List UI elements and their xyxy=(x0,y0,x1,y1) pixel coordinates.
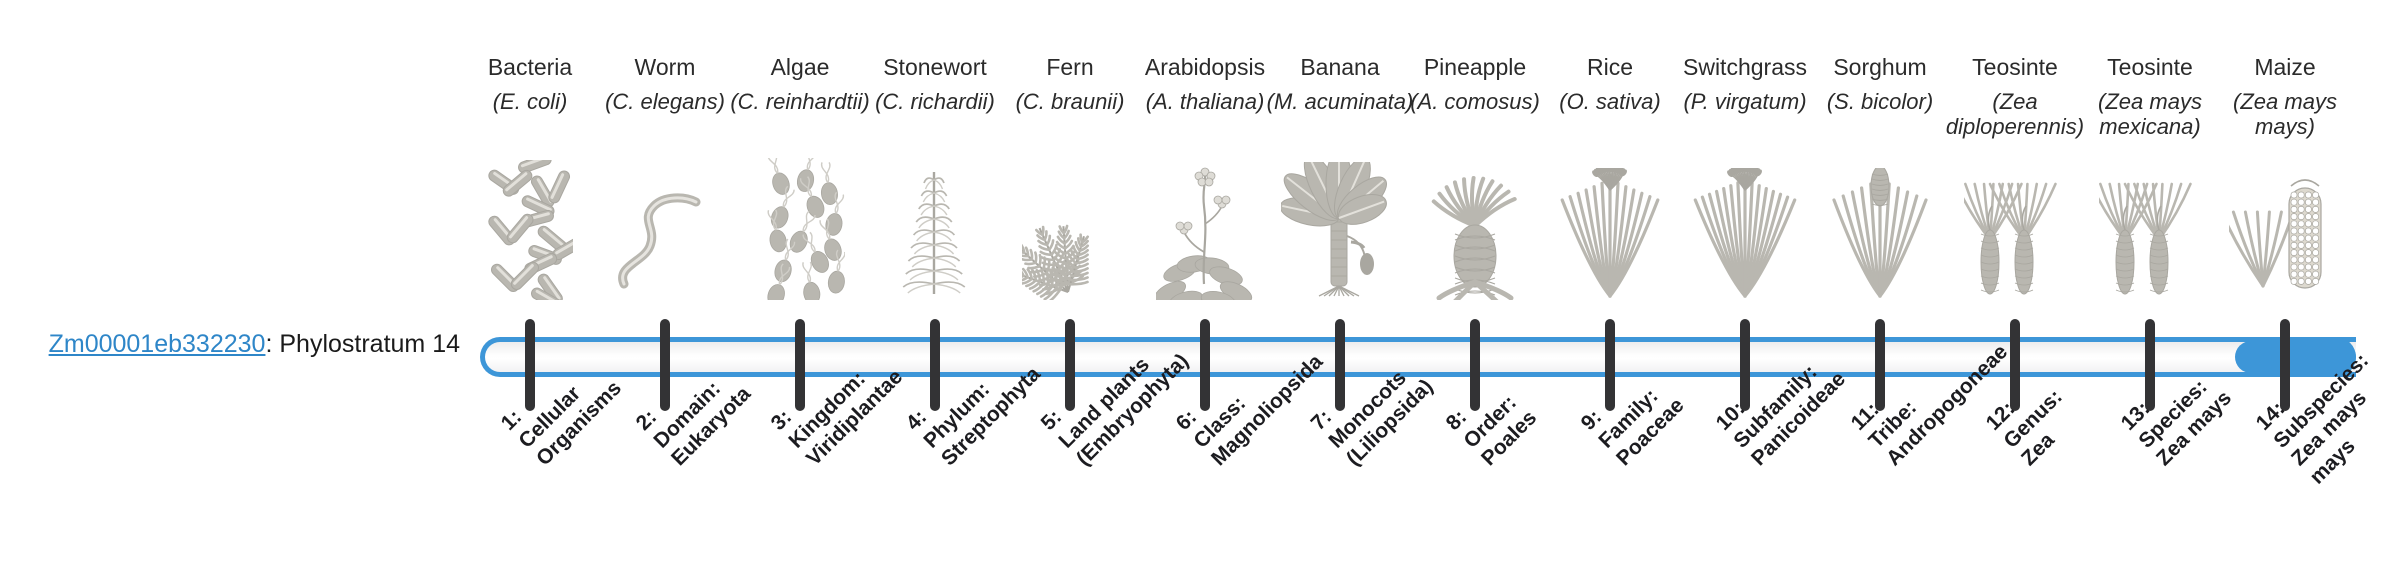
phylostratum-label: 13: Species: Zea mays xyxy=(2116,312,2275,471)
phylostratum-label: 12: Genus: Zea xyxy=(1981,312,2140,471)
phylostratum-label: 14: Subspecies: Zea mays mays xyxy=(2251,312,2400,489)
phylostratum-timeline-figure: Zm00001eb332230: Phylostratum 14 Bacteri… xyxy=(0,0,2400,580)
phylostratum-label: 1: Cellular Organisms xyxy=(496,312,655,471)
phylostratum-label: 5: Land plants (Embryophyta) xyxy=(1036,312,1195,471)
gene-id-link[interactable]: Zm00001eb332230 xyxy=(49,330,266,358)
phylostratum-label: 4: Phylum: Streptophyta xyxy=(901,312,1060,471)
phylostratum-label: 2: Domain: Eukaryota xyxy=(631,312,790,471)
phylostratum-label: 10: Subfamily: Panicoideae xyxy=(1711,312,1870,471)
phylostratum-label: 8: Order: Poales xyxy=(1441,312,1600,471)
gene-row-label: Zm00001eb332230: Phylostratum 14 xyxy=(0,330,460,359)
phylostratum-label: 9: Family: Poaceae xyxy=(1576,312,1735,471)
phylostratum-labels: 1: Cellular Organisms2: Domain: Eukaryot… xyxy=(480,0,2355,580)
phylostratum-label: 7: Monocots (Liliopsida) xyxy=(1306,312,1465,471)
gene-phylostratum-text: Phylostratum 14 xyxy=(279,330,460,358)
gene-label-separator: : xyxy=(265,330,279,358)
phylostratum-label: 11: Tribe: Andropogoneae xyxy=(1846,312,2005,471)
phylostratum-label: 6: Class: Magnoliopsida xyxy=(1171,312,1330,471)
phylostratum-label: 3: Kingdom: Viridiplantae xyxy=(766,312,925,471)
